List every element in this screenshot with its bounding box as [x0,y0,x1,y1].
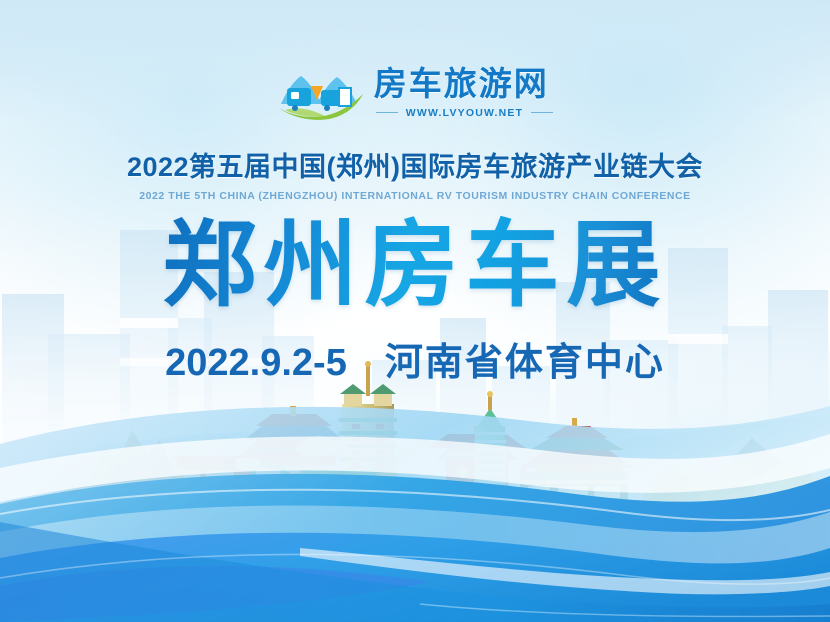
tree-cluster-left-of-temple [408,488,444,516]
event-date: 2022.9.2-5 [165,342,347,385]
dash-left [376,112,398,113]
conference-title-en: 2022 THE 5TH CHINA (ZHENGZHOU) INTERNATI… [139,190,691,202]
conference-title-cn: 2022第五届中国(郑州)国际房车旅游产业链大会 [127,145,703,184]
tree-cluster-right-of-pagoda [391,477,429,514]
brand-url-row: WWW.LVYOUW.NET [374,107,554,119]
green-yellow-travel-trailer [286,470,398,514]
poster-canvas: 房车旅游网 WWW.LVYOUW.NET 2022第五届中国(郑州)国际房车旅游… [0,0,830,622]
brand-url: WWW.LVYOUW.NET [406,107,524,119]
event-venue: 河南省体育中心 [385,331,665,386]
poster-content: 房车旅游网 WWW.LVYOUW.NET 2022第五届中国(郑州)国际房车旅游… [0,0,830,460]
orange-rv-motorhome [176,456,292,507]
page-title: 郑州房车展 [162,216,667,315]
dark-green-caravan [520,464,646,524]
dash-right [531,112,553,113]
brand-logo[interactable]: 房车旅游网 WWW.LVYOUW.NET [277,64,554,122]
henan-art-center [636,462,822,510]
brand-name-cn: 房车旅游网 [374,67,549,102]
mountain-rv-logo-icon [277,64,365,122]
date-venue-row: 2022.9.2-5 河南省体育中心 [165,331,665,386]
